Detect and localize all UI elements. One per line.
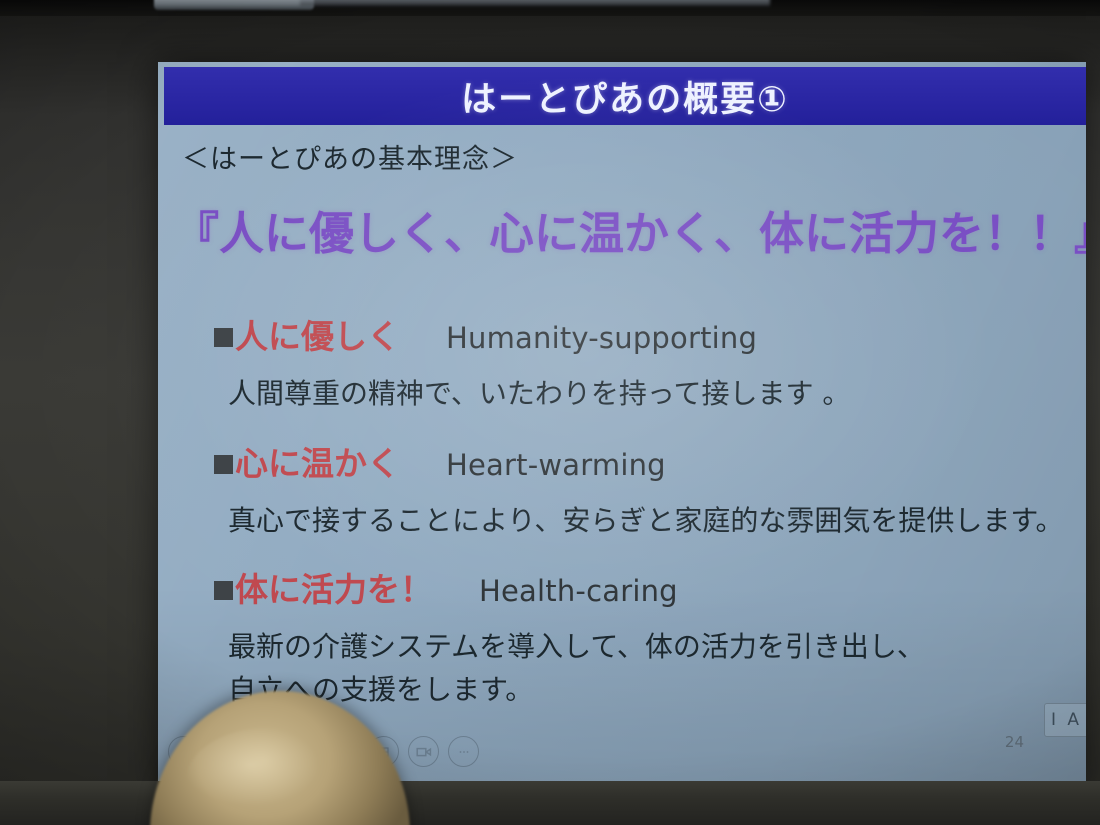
bullet-title-jp-3: 体に活力を！ <box>235 563 433 611</box>
bullet-title-en-2: Heart-warming <box>446 448 666 482</box>
slide-subtitle: ＜はーとぴあの基本理念＞ <box>182 137 518 176</box>
slide-title-banner: はーとぴあの概要① <box>164 67 1086 125</box>
bullet-block-3: 体に活力を！ Health-caring 最新の介護システムを導入して、体の活力… <box>214 563 1074 712</box>
bullet-heading-1: 人に優しく Humanity-supporting <box>214 310 1074 358</box>
projected-slide-photo: はーとぴあの概要① ＜はーとぴあの基本理念＞ 『人に優しく、心に温かく、体に活力… <box>0 0 1100 825</box>
bullet-title-jp-2: 心に温かく <box>235 437 400 485</box>
bullet-heading-2: 心に温かく Heart-warming <box>214 437 1074 485</box>
square-bullet-icon <box>214 581 233 600</box>
bullet-description-1-line1: 人間尊重の精神で、いたわりを持って接します 。 <box>228 377 850 410</box>
screen-top-rail <box>300 0 770 6</box>
bullet-title-en-3: Health-caring <box>479 574 678 608</box>
slide-title: はーとぴあの概要① <box>461 71 789 122</box>
bullet-description-1: 人間尊重の精神で、いたわりを持って接します 。 <box>228 372 1074 415</box>
bullet-description-3-line1: 最新の介護システムを導入して、体の活力を引き出し、 <box>228 630 925 663</box>
bullet-block-1: 人に優しく Humanity-supporting 人間尊重の精神で、いたわりを… <box>214 310 1074 415</box>
bullet-description-3-line2: 自立への支援をします。 <box>228 668 1074 711</box>
square-bullet-icon <box>214 455 233 474</box>
slide-slogan: 『人に優しく、心に温かく、体に活力を！！』 <box>174 197 1086 262</box>
bullet-description-2-line1: 真心で接することにより、安らぎと家庭的な雰囲気を提供します。 <box>228 504 1064 537</box>
slide-body: ＜はーとぴあの基本理念＞ 『人に優しく、心に温かく、体に活力を！！』 人に優しく… <box>158 125 1086 789</box>
bullet-title-jp-1: 人に優しく <box>235 310 400 358</box>
bullet-block-2: 心に温かく Heart-warming 真心で接することにより、安らぎと家庭的な… <box>214 437 1074 542</box>
ceiling-light-fixture <box>154 0 314 10</box>
video-record-icon[interactable] <box>408 736 439 767</box>
bullet-description-2: 真心で接することにより、安らぎと家庭的な雰囲気を提供します。 <box>228 499 1074 542</box>
bullet-heading-3: 体に活力を！ Health-caring <box>214 563 1074 611</box>
projection-screen: はーとぴあの概要① ＜はーとぴあの基本理念＞ 『人に優しく、心に温かく、体に活力… <box>158 62 1086 789</box>
square-bullet-icon <box>214 328 233 347</box>
bullet-title-en-1: Humanity-supporting <box>446 321 757 355</box>
more-options-icon[interactable] <box>448 736 479 767</box>
bullet-description-3: 最新の介護システムを導入して、体の活力を引き出し、 自立への支援をします。 <box>228 625 1074 712</box>
slide-page-number: 24 <box>1005 733 1024 751</box>
edge-ui-chip[interactable]: I A <box>1044 703 1086 737</box>
